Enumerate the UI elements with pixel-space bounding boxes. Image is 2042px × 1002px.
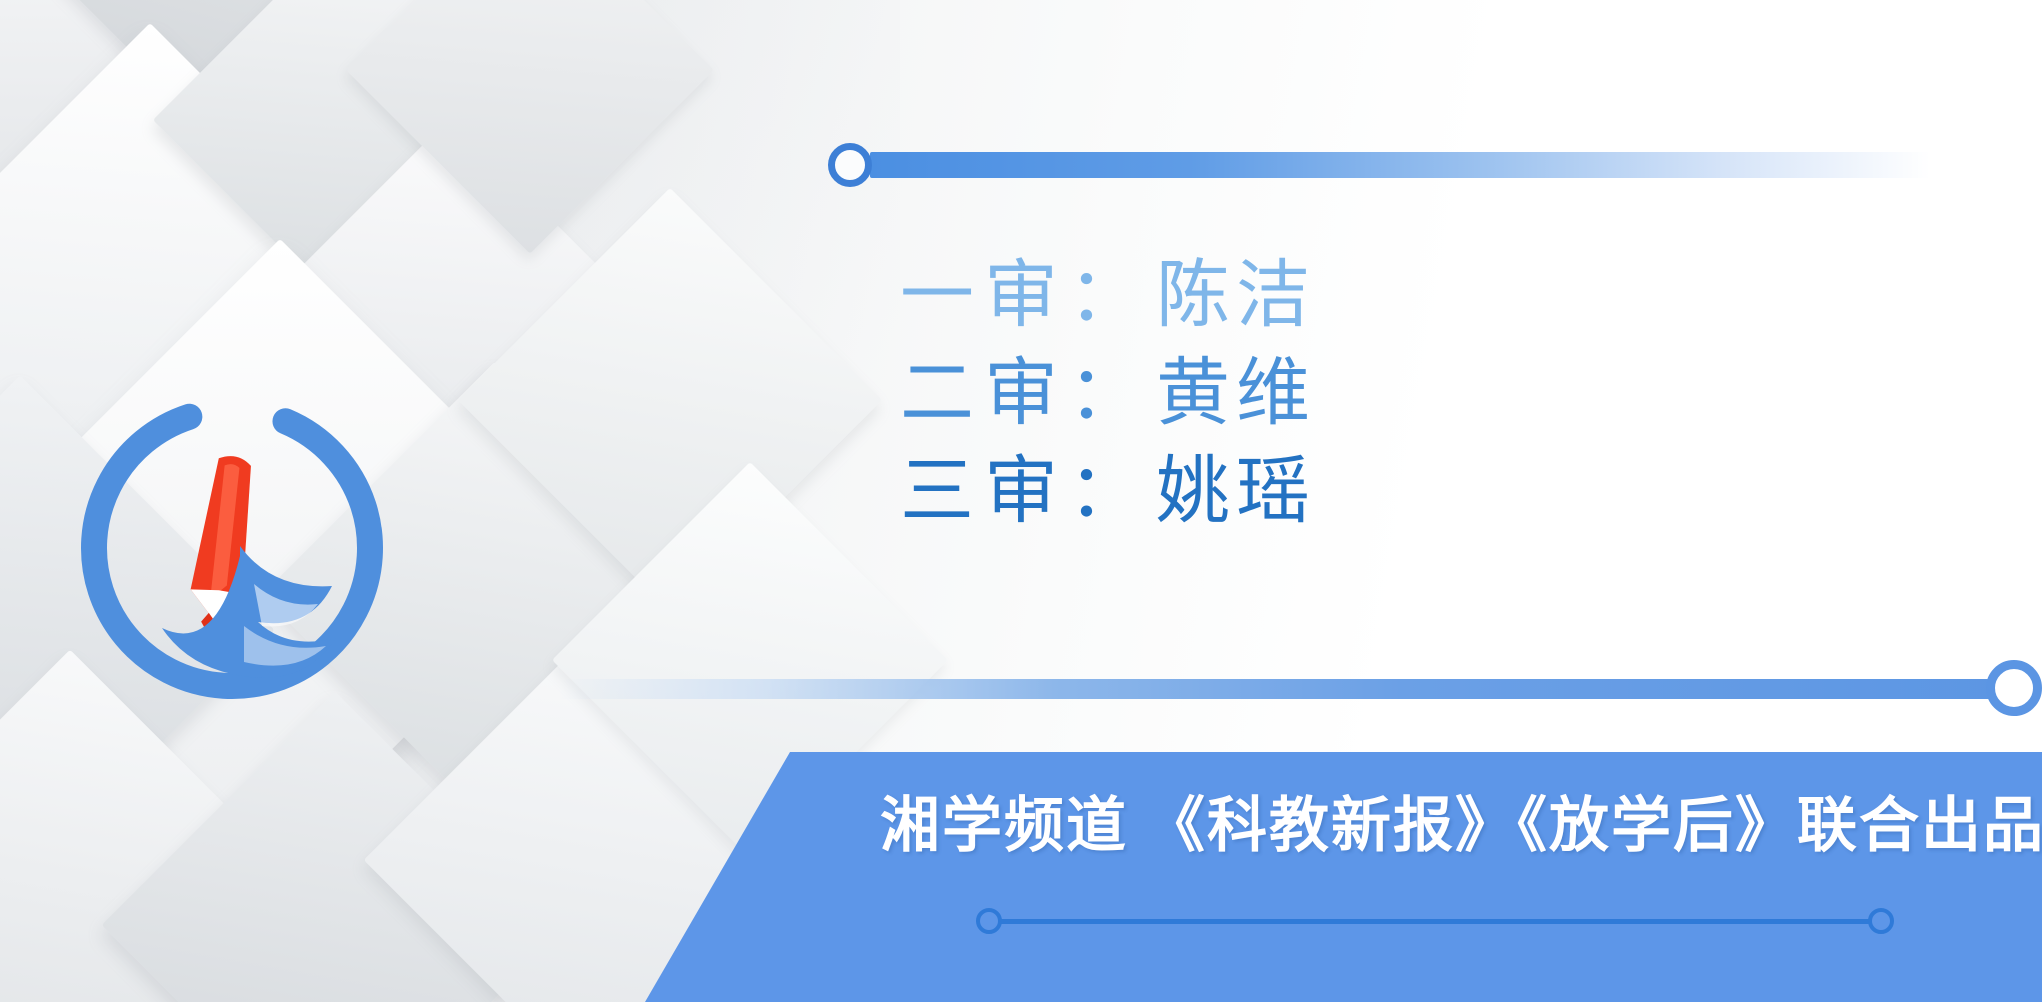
credit-person-name: 黄维 [1156,351,1316,434]
credits-block: 一审：陈洁 二审：黄维 三审：姚瑶 [900,246,1660,540]
credit-separator: ： [1068,351,1156,434]
credit-line-first-review: 一审：陈洁 [900,246,1660,344]
credit-role-label: 一审 [900,253,1068,336]
top-connector-node-icon [828,143,872,187]
credit-separator: ： [1068,449,1156,532]
pencil-wave-logo [72,388,392,708]
credit-separator: ： [1068,253,1156,336]
banner-rule-line [988,919,1880,924]
mid-connector-node-icon [1986,660,2042,716]
credit-role-label: 三审 [900,449,1068,532]
slide-canvas: 一审：陈洁 二审：黄维 三审：姚瑶 湘学频道 《科教新报》《放学后》联合出品 [0,0,2042,1002]
top-connector-bar [870,152,1930,178]
mid-connector-bar [560,679,2010,699]
banner-rule-dot-left-icon [976,908,1002,934]
credit-person-name: 姚瑶 [1156,449,1316,532]
credit-role-label: 二审 [900,351,1068,434]
credit-person-name: 陈洁 [1156,253,1316,336]
credit-line-second-review: 二审：黄维 [900,344,1660,442]
banner-producer-credit: 湘学频道 《科教新报》《放学后》联合出品 [880,772,2042,868]
credit-line-third-review: 三审：姚瑶 [900,442,1660,540]
banner-rule-dot-right-icon [1868,908,1894,934]
